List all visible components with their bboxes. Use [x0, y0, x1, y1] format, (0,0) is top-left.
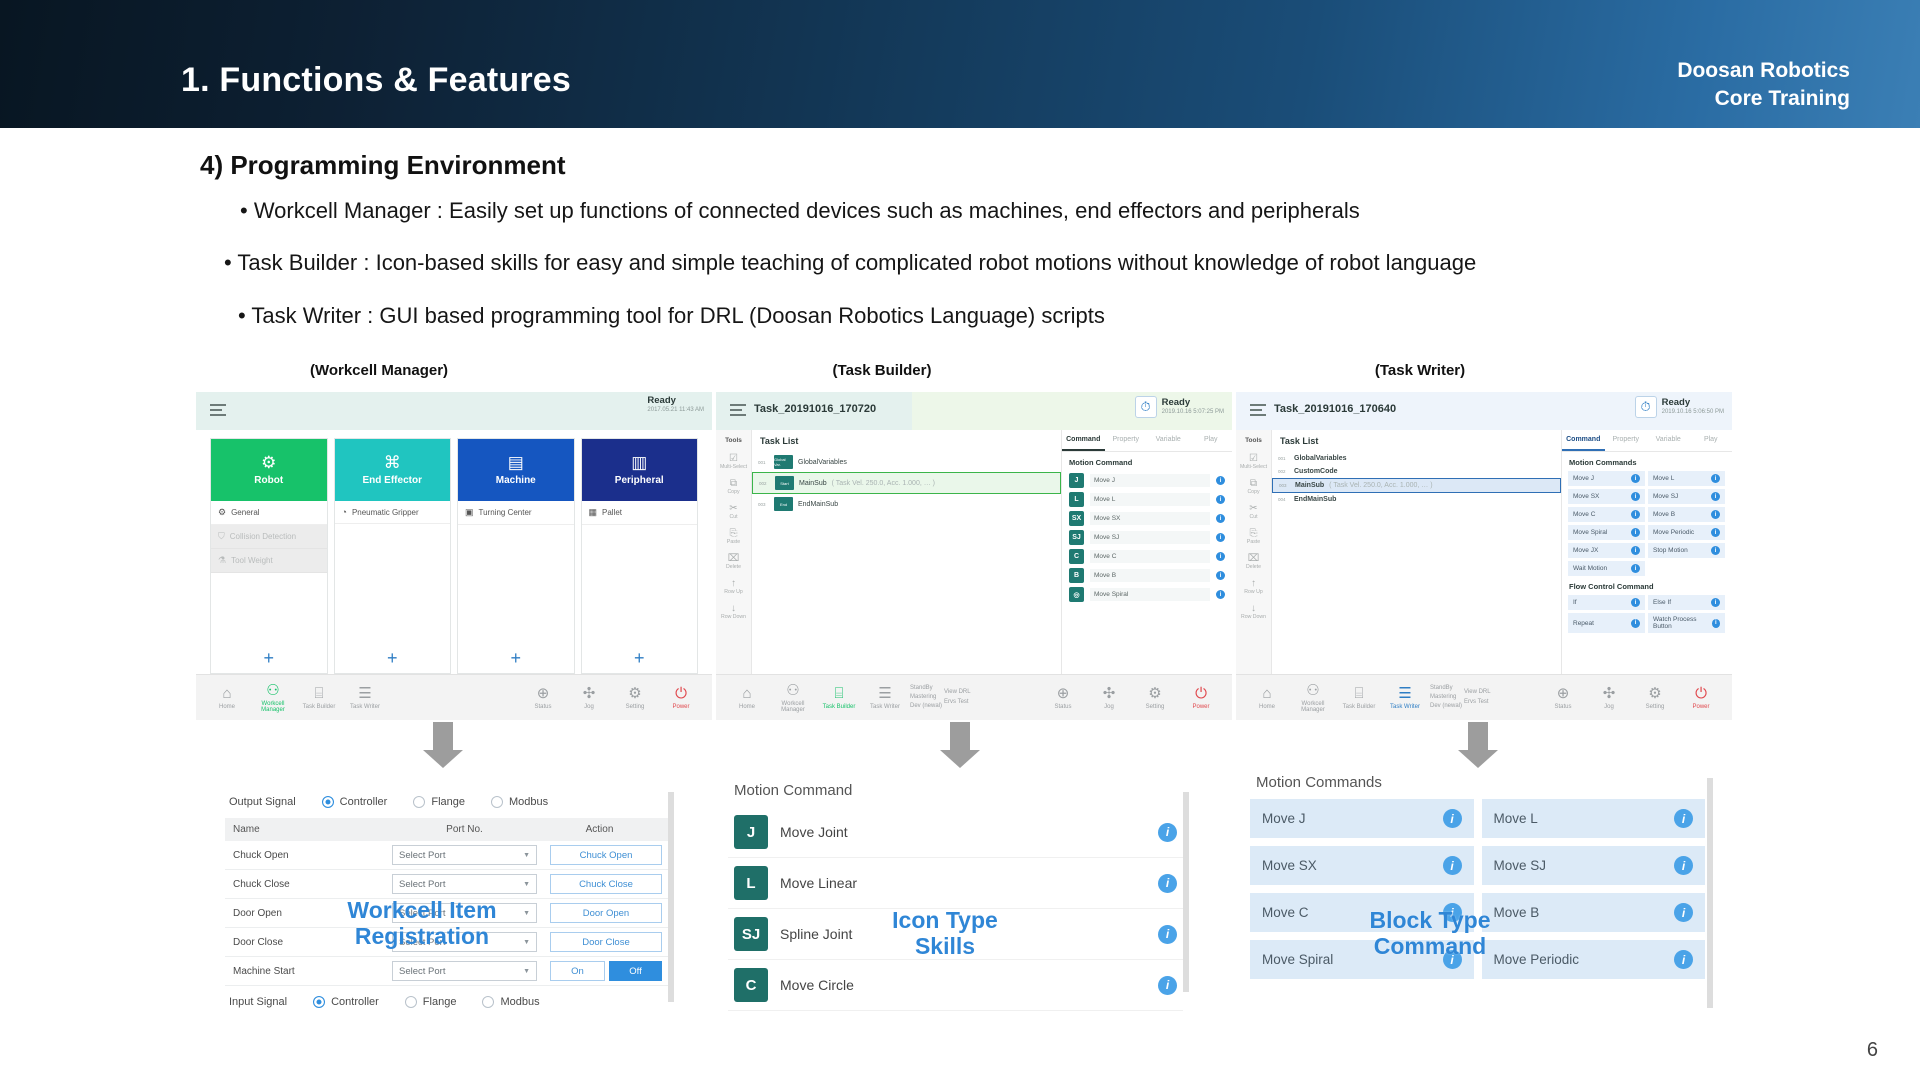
tb-list-header: Task List: [752, 430, 1061, 452]
info-icon[interactable]: i: [1631, 619, 1640, 628]
task-row[interactable]: 003EndEndMainSub: [752, 494, 1061, 514]
tab-property[interactable]: Property: [1105, 430, 1148, 451]
tool-label: Cut: [716, 514, 751, 520]
tw-task-list: Task List 001GlobalVariables002CustomCod…: [1272, 430, 1562, 674]
tool-paste[interactable]: ⎘Paste: [716, 524, 751, 549]
nav-task-builder[interactable]: ⌸Task Builder: [1336, 686, 1382, 710]
nav-label: Workcell Manager: [1290, 701, 1336, 713]
tab-command[interactable]: Command: [1562, 430, 1605, 451]
wm-card-item[interactable]: ⚙General: [211, 501, 327, 525]
command-icon: ◎: [1069, 587, 1084, 602]
wm-card[interactable]: ▤Machine▣Turning Center+: [457, 438, 575, 674]
arrow-down-task-writer: [1458, 722, 1498, 768]
wm-status-block: Ready 2017.05.21 11:43 AM: [647, 396, 704, 414]
radio-modbus[interactable]: Modbus: [491, 796, 548, 808]
table-row: Chuck CloseSelect Port▼Chuck Close: [225, 870, 670, 899]
port-select[interactable]: Select Port▼: [392, 961, 537, 981]
chevron-down-icon: ▼: [523, 852, 530, 859]
command-cell[interactable]: Else Ifi: [1648, 595, 1725, 610]
motion-command-cell[interactable]: Move Li: [1482, 799, 1706, 838]
page-title: 1. Functions & Features: [181, 61, 571, 100]
task-writer-icon: ☰: [1382, 686, 1428, 702]
nav-label: Power: [1678, 704, 1724, 710]
info-icon[interactable]: i: [1631, 564, 1640, 573]
command-label: Move C: [1090, 550, 1210, 563]
info-icon[interactable]: i: [1216, 533, 1225, 542]
row-up-icon: ↑: [716, 578, 751, 589]
command-icon: J: [734, 815, 768, 849]
command-label: Move Circle: [780, 977, 1146, 993]
bullet-task-builder: • Task Builder : Icon-based skills for e…: [218, 250, 1918, 275]
tool-copy[interactable]: ⧉Copy: [1236, 474, 1271, 499]
tw-status-label: Ready: [1662, 398, 1724, 409]
wm-card-item-label: Tool Weight: [231, 556, 273, 565]
nav-extra-item[interactable]: Ervs Test: [944, 698, 971, 707]
info-icon[interactable]: i: [1711, 546, 1720, 555]
command-icon: SX: [1069, 511, 1084, 526]
multi-select-icon: ☑: [716, 453, 751, 464]
action-toggle: OnOff: [550, 961, 662, 981]
command-label: If: [1573, 599, 1577, 606]
info-icon[interactable]: i: [1711, 528, 1720, 537]
row-chip: Start: [775, 476, 794, 490]
cut-icon: ✂: [716, 503, 751, 514]
tab-play[interactable]: Play: [1190, 430, 1233, 451]
row-chip: End: [774, 497, 793, 511]
info-icon[interactable]: i: [1216, 514, 1225, 523]
nav-workcell-manager[interactable]: ⚇Workcell Manager: [770, 683, 816, 713]
gripper-icon: ⌘: [384, 454, 401, 471]
nav-task-writer[interactable]: ☰Task Writer: [862, 686, 908, 710]
row-number: 004: [1278, 497, 1289, 502]
tool-copy[interactable]: ⧉Copy: [716, 474, 751, 499]
command-label: Watch Process Button: [1653, 616, 1712, 630]
task-builder-icon: ⌸: [296, 686, 342, 702]
wm-status-label: Ready: [647, 396, 704, 407]
radio-button: [482, 996, 494, 1008]
status-icon: ⊕: [1540, 686, 1586, 702]
item-icon: ⚗: [218, 555, 226, 566]
info-icon[interactable]: i: [1158, 823, 1177, 842]
jog-icon: ✣: [1586, 686, 1632, 702]
nav-extra-item[interactable]: Dev (newal): [910, 702, 942, 711]
tab-variable[interactable]: Variable: [1147, 430, 1190, 451]
nav-setting[interactable]: ⚙Setting: [1132, 686, 1178, 710]
add-item-button[interactable]: +: [211, 648, 327, 673]
port-select[interactable]: Select Port▼: [392, 874, 537, 894]
wm-card-item-label: Collision Detection: [230, 532, 296, 541]
add-item-button[interactable]: +: [335, 648, 451, 673]
tb-bottom-nav: ⌂Home⚇Workcell Manager⌸Task Builder☰Task…: [716, 674, 1232, 720]
command-label: Move Spiral: [1262, 952, 1333, 967]
tool-delete[interactable]: ⌧Delete: [716, 549, 751, 574]
command-cell[interactable]: Move Ji: [1568, 471, 1645, 486]
command-row[interactable]: SXMove SXi: [1062, 509, 1232, 528]
nav-label: Task Writer: [342, 704, 388, 710]
command-label: Move J: [1090, 474, 1210, 487]
info-icon[interactable]: i: [1216, 571, 1225, 580]
info-icon[interactable]: i: [1216, 495, 1225, 504]
brand-line-1: Doosan Robotics: [1677, 57, 1850, 85]
nav-label: Jog: [566, 704, 612, 710]
wm-card-item[interactable]: ▣Turning Center: [458, 501, 574, 525]
nav-home[interactable]: ⌂Home: [724, 686, 770, 710]
tab-play[interactable]: Play: [1690, 430, 1733, 451]
item-icon: ◔: [342, 507, 347, 517]
command-cell[interactable]: Move Periodici: [1648, 525, 1725, 540]
overlay-line-2: Registration: [322, 924, 522, 950]
radio-button: [491, 796, 503, 808]
screenshot-workcell-manager: Ready 2017.05.21 11:43 AM ⚙Robot⚙General…: [196, 392, 712, 720]
row-name: Chuck Close: [233, 879, 392, 890]
action-button[interactable]: Chuck Close: [550, 874, 662, 894]
info-icon[interactable]: i: [1631, 546, 1640, 555]
hamburger-menu-icon[interactable]: [210, 404, 226, 419]
command-cell[interactable]: Move Bi: [1648, 507, 1725, 522]
command-cell[interactable]: Stop Motioni: [1648, 543, 1725, 558]
wm-card-item[interactable]: ⛉Collision Detection: [211, 525, 327, 549]
tw-section-title: Motion Commands: [1562, 452, 1732, 471]
task-row[interactable]: 002CustomCode: [1272, 465, 1561, 478]
info-icon[interactable]: i: [1711, 510, 1720, 519]
tw-status-block: ⏱ Ready 2019.10.16 5:06:50 PM: [1635, 396, 1724, 418]
row-number: 002: [1278, 469, 1289, 474]
command-icon: L: [734, 866, 768, 900]
item-icon: ▣: [465, 507, 474, 518]
home-icon: ⌂: [724, 686, 770, 702]
tab-property[interactable]: Property: [1605, 430, 1648, 451]
motion-command-cell[interactable]: Move Ji: [1250, 799, 1474, 838]
chevron-down-icon: ▼: [523, 939, 530, 946]
command-label: Move SX: [1573, 493, 1599, 500]
setting-icon: ⚙: [1132, 686, 1178, 702]
command-label: Move L: [1090, 493, 1210, 506]
nav-extra-item[interactable]: StandBy: [910, 684, 942, 693]
task-row[interactable]: 002StartMainSub ( Task Vel. 250.0, Acc. …: [752, 472, 1061, 494]
caption-task-builder: (Task Builder): [782, 362, 982, 379]
tool-cut[interactable]: ✂Cut: [1236, 499, 1271, 524]
wm-card-header: ▤Machine: [458, 439, 574, 501]
info-icon[interactable]: i: [1158, 976, 1177, 995]
motion-command-cell[interactable]: Move SXi: [1250, 846, 1474, 885]
wm-card[interactable]: ⚙Robot⚙General⛉Collision Detection⚗Tool …: [210, 438, 328, 674]
toggle-off-button[interactable]: Off: [609, 961, 662, 981]
multi-select-icon: ☑: [1236, 453, 1271, 464]
tool-label: Copy: [1236, 489, 1271, 495]
info-icon[interactable]: i: [1711, 492, 1720, 501]
power-icon: ⏻: [1678, 686, 1724, 702]
info-icon[interactable]: i: [1443, 809, 1462, 828]
item-icon: ⛉: [218, 531, 225, 542]
overlay-line-1: Icon Type: [860, 908, 1030, 934]
wm-bottom-nav: ⌂Home⚇Workcell Manager⌸Task Builder☰Task…: [196, 674, 712, 720]
cut-icon: ✂: [1236, 503, 1271, 514]
nav-status[interactable]: ⊕Status: [520, 686, 566, 710]
command-cell[interactable]: Move Spirali: [1568, 525, 1645, 540]
status-icon: ⊕: [1040, 686, 1086, 702]
nav-home[interactable]: ⌂Home: [204, 686, 250, 710]
command-row[interactable]: LMove Li: [1062, 490, 1232, 509]
nav-extra-item[interactable]: Ervs Test: [1464, 698, 1491, 707]
item-icon: ⚙: [218, 507, 226, 518]
radio-button: [413, 796, 425, 808]
status-icon: ⊕: [520, 686, 566, 702]
nav-extra-column-1: StandByMasteringDev (newal): [910, 684, 942, 712]
wm-card-item-label: Pneumatic Gripper: [352, 508, 419, 517]
row-label: MainSub: [799, 480, 827, 487]
info-icon[interactable]: i: [1674, 856, 1693, 875]
tool-label: Paste: [716, 539, 751, 545]
tool-label: Row Down: [716, 614, 751, 620]
motion-command-row[interactable]: CMove Circlei: [728, 960, 1183, 1011]
info-icon[interactable]: i: [1631, 492, 1640, 501]
info-icon[interactable]: i: [1674, 950, 1693, 969]
info-icon[interactable]: i: [1158, 925, 1177, 944]
task-writer-icon: ☰: [862, 686, 908, 702]
action-button[interactable]: Chuck Open: [550, 845, 662, 865]
motion-command-row[interactable]: LMove Lineari: [728, 858, 1183, 909]
radio-flange[interactable]: Flange: [413, 796, 465, 808]
info-icon[interactable]: i: [1674, 903, 1693, 922]
add-item-button[interactable]: +: [582, 648, 698, 673]
nav-jog[interactable]: ✣Jog: [1086, 686, 1132, 710]
wm-card-grid: ⚙Robot⚙General⛉Collision Detection⚗Tool …: [210, 438, 698, 674]
overlay-block-type-command: Block Type Command: [1330, 908, 1530, 960]
command-cell[interactable]: Move JXi: [1568, 543, 1645, 558]
info-icon[interactable]: i: [1158, 874, 1177, 893]
hamburger-menu-icon[interactable]: [1250, 404, 1266, 419]
command-label: Move SX: [1090, 512, 1210, 525]
tool-label: Paste: [1236, 539, 1271, 545]
row-label: CustomCode: [1294, 468, 1338, 475]
output-signal-row: Output Signal ControllerFlangeModbus: [225, 792, 670, 818]
info-icon[interactable]: i: [1712, 619, 1720, 628]
command-row[interactable]: ◎Move Spirali: [1062, 585, 1232, 604]
tab-command[interactable]: Command: [1062, 430, 1105, 451]
nav-extra-item[interactable]: Mastering: [910, 693, 942, 702]
wm-card[interactable]: ▥Peripheral▦Pallet+: [581, 438, 699, 674]
command-row[interactable]: CMove Ci: [1062, 547, 1232, 566]
info-icon[interactable]: i: [1631, 598, 1640, 607]
chevron-down-icon: ▼: [523, 881, 530, 888]
tool-paste[interactable]: ⎘Paste: [1236, 524, 1271, 549]
nav-label: Setting: [1632, 704, 1678, 710]
tool-multi-select[interactable]: ☑Multi-Select: [1236, 449, 1271, 474]
command-cell[interactable]: Repeati: [1568, 613, 1645, 633]
nav-extra-item[interactable]: Dev (newal): [1430, 702, 1462, 711]
table-row: Chuck OpenSelect Port▼Chuck Open: [225, 841, 670, 870]
info-icon[interactable]: i: [1216, 590, 1225, 599]
command-label: Move C: [1262, 905, 1309, 920]
info-icon[interactable]: i: [1631, 474, 1640, 483]
output-signal-label: Output Signal: [229, 796, 296, 808]
nav-power[interactable]: ⏻Power: [658, 686, 704, 710]
info-icon[interactable]: i: [1216, 476, 1225, 485]
copy-icon: ⧉: [716, 478, 751, 489]
detail2-title: Motion Command: [728, 778, 1183, 807]
nav-jog[interactable]: ✣Jog: [566, 686, 612, 710]
detail3-scrollbar[interactable]: [1707, 778, 1713, 1008]
col-action: Action: [537, 824, 662, 835]
command-row[interactable]: SJMove SJi: [1062, 528, 1232, 547]
add-item-button[interactable]: +: [458, 648, 574, 673]
row-label: EndMainSub: [1294, 496, 1336, 503]
command-cell[interactable]: Wait Motioni: [1568, 561, 1645, 576]
wm-card-item-label: General: [231, 508, 259, 517]
radio-label: Flange: [431, 796, 465, 808]
command-cell[interactable]: Move SXi: [1568, 489, 1645, 504]
command-cell[interactable]: Watch Process Buttoni: [1648, 613, 1725, 633]
brand-line-2: Core Training: [1677, 85, 1850, 113]
command-cell[interactable]: Move SJi: [1648, 489, 1725, 504]
nav-extra-item[interactable]: Mastering: [1430, 693, 1462, 702]
command-row[interactable]: BMove Bi: [1062, 566, 1232, 585]
info-icon[interactable]: i: [1674, 809, 1693, 828]
radio-label: Flange: [423, 996, 457, 1008]
action-button[interactable]: Door Open: [550, 903, 662, 923]
info-icon[interactable]: i: [1711, 474, 1720, 483]
tool-multi-select[interactable]: ☑Multi-Select: [716, 449, 751, 474]
tw-command-panel: CommandPropertyVariablePlay Motion Comma…: [1562, 430, 1732, 674]
delete-icon: ⌧: [1236, 553, 1271, 564]
nav-label: Workcell Manager: [770, 701, 816, 713]
row-label: GlobalVariables: [798, 459, 847, 466]
row-up-icon: ↑: [1236, 578, 1271, 589]
nav-task-builder[interactable]: ⌸Task Builder: [296, 686, 342, 710]
nav-jog[interactable]: ✣Jog: [1586, 686, 1632, 710]
tab-variable[interactable]: Variable: [1647, 430, 1690, 451]
nav-task-builder[interactable]: ⌸Task Builder: [816, 686, 862, 710]
task-builder-icon: ⌸: [1336, 686, 1382, 702]
power-icon: ⏻: [1178, 686, 1224, 702]
table-row: Machine StartSelect Port▼OnOff: [225, 957, 670, 986]
wm-card-header: ▥Peripheral: [582, 439, 698, 501]
command-cell[interactable]: Ifi: [1568, 595, 1645, 610]
command-label: Move Spiral: [1573, 529, 1607, 536]
tool-row-down[interactable]: ↓Row Down: [716, 599, 751, 624]
col-name: Name: [233, 824, 392, 835]
wm-card-item[interactable]: ▦Pallet: [582, 501, 698, 525]
info-icon[interactable]: i: [1216, 552, 1225, 561]
nav-power[interactable]: ⏻Power: [1678, 686, 1724, 710]
wm-card-item[interactable]: ◔Pneumatic Gripper: [335, 501, 451, 524]
command-cell[interactable]: Move Li: [1648, 471, 1725, 486]
detail1-scrollbar[interactable]: [668, 792, 674, 1002]
task-row[interactable]: 001Global Var.GlobalVariables: [752, 452, 1061, 472]
nav-workcell-manager[interactable]: ⚇Workcell Manager: [250, 683, 296, 713]
task-writer-icon: ☰: [342, 686, 388, 702]
nav-status[interactable]: ⊕Status: [1540, 686, 1586, 710]
nav-label: Task Writer: [1382, 704, 1428, 710]
nav-label: Task Writer: [862, 704, 908, 710]
command-label: Move C: [1573, 511, 1595, 518]
command-icon: C: [734, 968, 768, 1002]
command-row[interactable]: JMove Ji: [1062, 471, 1232, 490]
tw-tab-strip: CommandPropertyVariablePlay: [1562, 430, 1732, 452]
workcell-manager-icon: ⚇: [1290, 683, 1336, 699]
tb-command-panel: CommandPropertyVariablePlay Motion Comma…: [1062, 430, 1232, 674]
tool-row-down[interactable]: ↓Row Down: [1236, 599, 1271, 624]
nav-label: Home: [204, 704, 250, 710]
paste-icon: ⎘: [716, 528, 751, 539]
nav-extra-item[interactable]: StandBy: [1430, 684, 1462, 693]
tool-row-up[interactable]: ↑Row Up: [1236, 574, 1271, 599]
nav-workcell-manager[interactable]: ⚇Workcell Manager: [1290, 683, 1336, 713]
tool-delete[interactable]: ⌧Delete: [1236, 549, 1271, 574]
arrow-down-workcell: [423, 722, 463, 768]
tool-row-up[interactable]: ↑Row Up: [716, 574, 751, 599]
wm-card[interactable]: ⌘End Effector◔Pneumatic Gripper+: [334, 438, 452, 674]
tw-section-title-2: Flow Control Command: [1562, 576, 1732, 595]
overlay-line-2: Skills: [860, 934, 1030, 960]
input-signal-label: Input Signal: [229, 996, 287, 1008]
command-icon: B: [1069, 568, 1084, 583]
radio-controller[interactable]: Controller: [313, 996, 379, 1008]
info-icon[interactable]: i: [1631, 528, 1640, 537]
task-row[interactable]: 001GlobalVariables: [1272, 452, 1561, 465]
nav-task-writer[interactable]: ☰Task Writer: [1382, 686, 1428, 710]
tw-status-time: 2019.10.16 5:06:50 PM: [1662, 409, 1724, 416]
command-cell[interactable]: Move Ci: [1568, 507, 1645, 522]
nav-power[interactable]: ⏻Power: [1178, 686, 1224, 710]
nav-task-writer[interactable]: ☰Task Writer: [342, 686, 388, 710]
action-button[interactable]: Door Close: [550, 932, 662, 952]
info-icon[interactable]: i: [1711, 598, 1720, 607]
nav-home[interactable]: ⌂Home: [1244, 686, 1290, 710]
task-row[interactable]: 004EndMainSub: [1272, 493, 1561, 506]
info-icon[interactable]: i: [1443, 856, 1462, 875]
tw-tools-header: Tools: [1236, 434, 1271, 449]
tb-task-name: Task_20191016_170720: [754, 403, 876, 415]
command-icon: SJ: [734, 917, 768, 951]
row-label: MainSub: [1295, 482, 1324, 489]
info-icon[interactable]: i: [1631, 510, 1640, 519]
radio-button: [313, 996, 325, 1008]
nav-setting[interactable]: ⚙Setting: [1632, 686, 1678, 710]
detail2-scrollbar[interactable]: [1183, 792, 1189, 992]
page-number: 6: [1867, 1039, 1878, 1062]
chevron-down-icon: ▼: [523, 968, 530, 975]
motion-command-row[interactable]: JMove Jointi: [728, 807, 1183, 858]
brand-block: Doosan Robotics Core Training: [1677, 57, 1850, 112]
registration-table-header: Name Port No. Action: [225, 818, 670, 841]
caption-task-writer: (Task Writer): [1320, 362, 1520, 379]
command-label: Move Periodic: [1653, 529, 1694, 536]
nav-extra-item[interactable]: View DRL: [944, 688, 971, 697]
nav-label: Home: [724, 704, 770, 710]
radio-flange[interactable]: Flange: [405, 996, 457, 1008]
wm-card-item[interactable]: ⚗Tool Weight: [211, 549, 327, 573]
task-row[interactable]: 003MainSub ( Task Vel. 250.0, Acc. 1.000…: [1272, 478, 1561, 493]
nav-extra-item[interactable]: View DRL: [1464, 688, 1491, 697]
toggle-on-button[interactable]: On: [550, 961, 605, 981]
nav-label: Jog: [1086, 704, 1132, 710]
hamburger-menu-icon[interactable]: [730, 404, 746, 419]
tool-cut[interactable]: ✂Cut: [716, 499, 751, 524]
row-detail: ( Task Vel. 250.0, Acc. 1.000, … ): [832, 480, 935, 487]
radio-modbus[interactable]: Modbus: [482, 996, 539, 1008]
motion-command-cell[interactable]: Move SJi: [1482, 846, 1706, 885]
nav-label: Task Builder: [1336, 704, 1382, 710]
nav-status[interactable]: ⊕Status: [1040, 686, 1086, 710]
port-select[interactable]: Select Port▼: [392, 845, 537, 865]
nav-setting[interactable]: ⚙Setting: [612, 686, 658, 710]
radio-controller[interactable]: Controller: [322, 796, 388, 808]
tb-section-title: Motion Command: [1062, 452, 1232, 471]
radio-label: Controller: [340, 796, 388, 808]
tool-label: Delete: [1236, 564, 1271, 570]
bullet-list: • Workcell Manager : Easily set up funct…: [218, 198, 1918, 355]
